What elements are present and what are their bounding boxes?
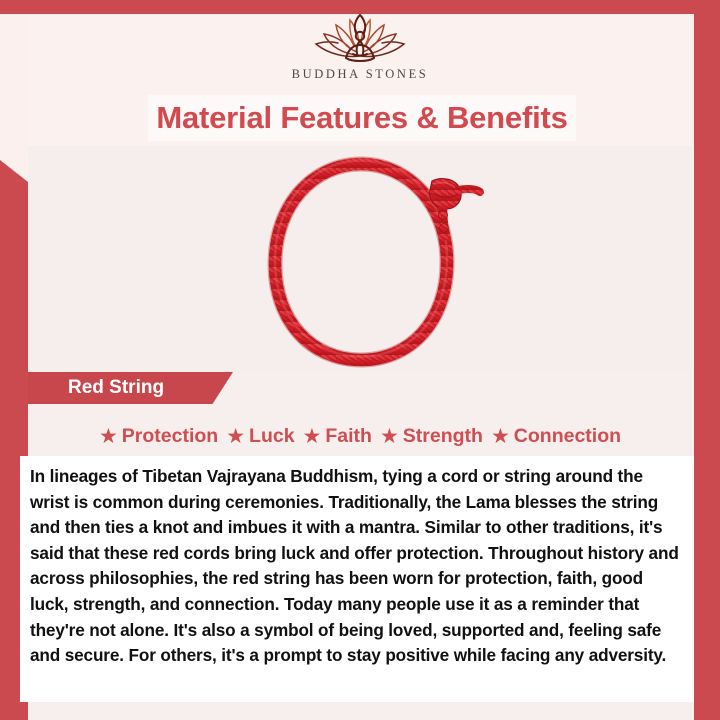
description-card: In lineages of Tibetan Vajrayana Buddhis… [20,456,694,702]
feature-label: Protection [122,425,218,448]
star-icon: ★ [99,426,118,447]
feature-item-connection: ★ Connection [491,425,621,448]
product-image [28,146,692,372]
star-icon: ★ [226,426,245,447]
ribbon-label: Red String [68,377,164,399]
brand-logo: BUDDHA STONES [0,14,720,90]
feature-label: Faith [325,425,372,448]
feature-label: Luck [249,425,295,448]
title-banner: Material Features & Benefits [148,95,576,141]
infographic-page: BUDDHA STONES Material Features & Benefi… [0,0,720,720]
product-ribbon: Red String [28,372,233,404]
feature-item-luck: ★ Luck [226,425,294,448]
top-accent-bar [0,0,720,14]
feature-label: Connection [514,425,621,448]
star-icon: ★ [303,426,322,447]
lotus-meditation-icon [308,14,412,66]
feature-list: ★ Protection ★ Luck ★ Faith ★ Strength ★… [28,418,692,454]
feature-label: Strength [403,425,483,448]
red-string-bracelet-illustration [28,146,692,372]
page-title: Material Features & Benefits [156,100,567,136]
star-icon: ★ [491,426,510,447]
feature-item-protection: ★ Protection [99,425,218,448]
feature-item-faith: ★ Faith [303,425,372,448]
brand-name: BUDDHA STONES [292,67,429,82]
description-text: In lineages of Tibetan Vajrayana Buddhis… [30,464,682,669]
right-accent-bar [694,0,720,720]
feature-item-strength: ★ Strength [380,425,483,448]
star-icon: ★ [380,426,399,447]
